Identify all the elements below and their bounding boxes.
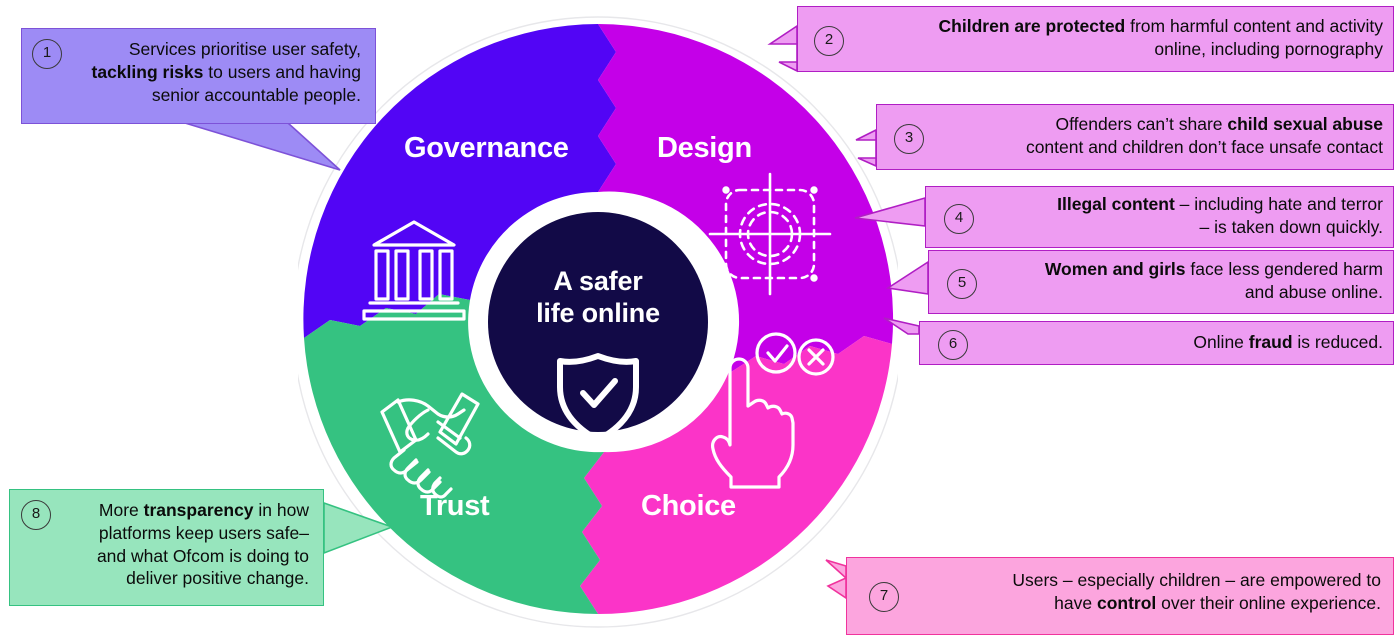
callout-text-5: Women and girls face less gendered harma… (987, 258, 1383, 304)
callout-number-1: 1 (32, 39, 62, 69)
callout-text-2: Children are protected from harmful cont… (854, 15, 1383, 61)
callout-4[interactable]: 4 Illegal content – including hate and t… (925, 186, 1394, 248)
callout-number-5: 5 (947, 269, 977, 299)
callout-number-3: 3 (894, 124, 924, 154)
callout-8[interactable]: 8 More transparency in howplatforms keep… (9, 489, 324, 606)
hub-heading-line2: life online (503, 298, 693, 330)
callout-text-3: Offenders can’t share child sexual abuse… (933, 113, 1383, 159)
hub-heading: A safer life online (503, 266, 693, 330)
callout-1[interactable]: 1 Services prioritise user safety,tackli… (21, 28, 376, 124)
callout-number-2: 2 (814, 26, 844, 56)
callout-2[interactable]: 2 Children are protected from harmful co… (797, 6, 1394, 72)
safer-life-online-wheel: Governance Design Trust Choice A safer l… (298, 8, 898, 636)
artboard-design-icon (710, 174, 830, 294)
callout-text-4: Illegal content – including hate and ter… (984, 193, 1383, 239)
callout-text-1: Services prioritise user safety,tackling… (68, 38, 361, 106)
callout-number-7: 7 (869, 582, 899, 612)
callout-number-6: 6 (938, 330, 968, 360)
infographic-canvas: Governance Design Trust Choice A safer l… (0, 0, 1397, 644)
callout-5[interactable]: 5 Women and girls face less gendered har… (928, 250, 1394, 314)
hub-heading-line1: A safer (503, 266, 693, 298)
callout-text-7: Users – especially children – are empowe… (909, 569, 1381, 615)
callout-number-4: 4 (944, 204, 974, 234)
callout-3[interactable]: 3 Offenders can’t share child sexual abu… (876, 104, 1394, 170)
callout-7[interactable]: 7 Users – especially children – are empo… (846, 557, 1394, 635)
callout-6[interactable]: 6 Online fraud is reduced. (919, 321, 1394, 365)
callout-number-8: 8 (21, 500, 51, 530)
callout-text-8: More transparency in howplatforms keep u… (54, 499, 309, 590)
callout-text-6: Online fraud is reduced. (978, 331, 1383, 354)
